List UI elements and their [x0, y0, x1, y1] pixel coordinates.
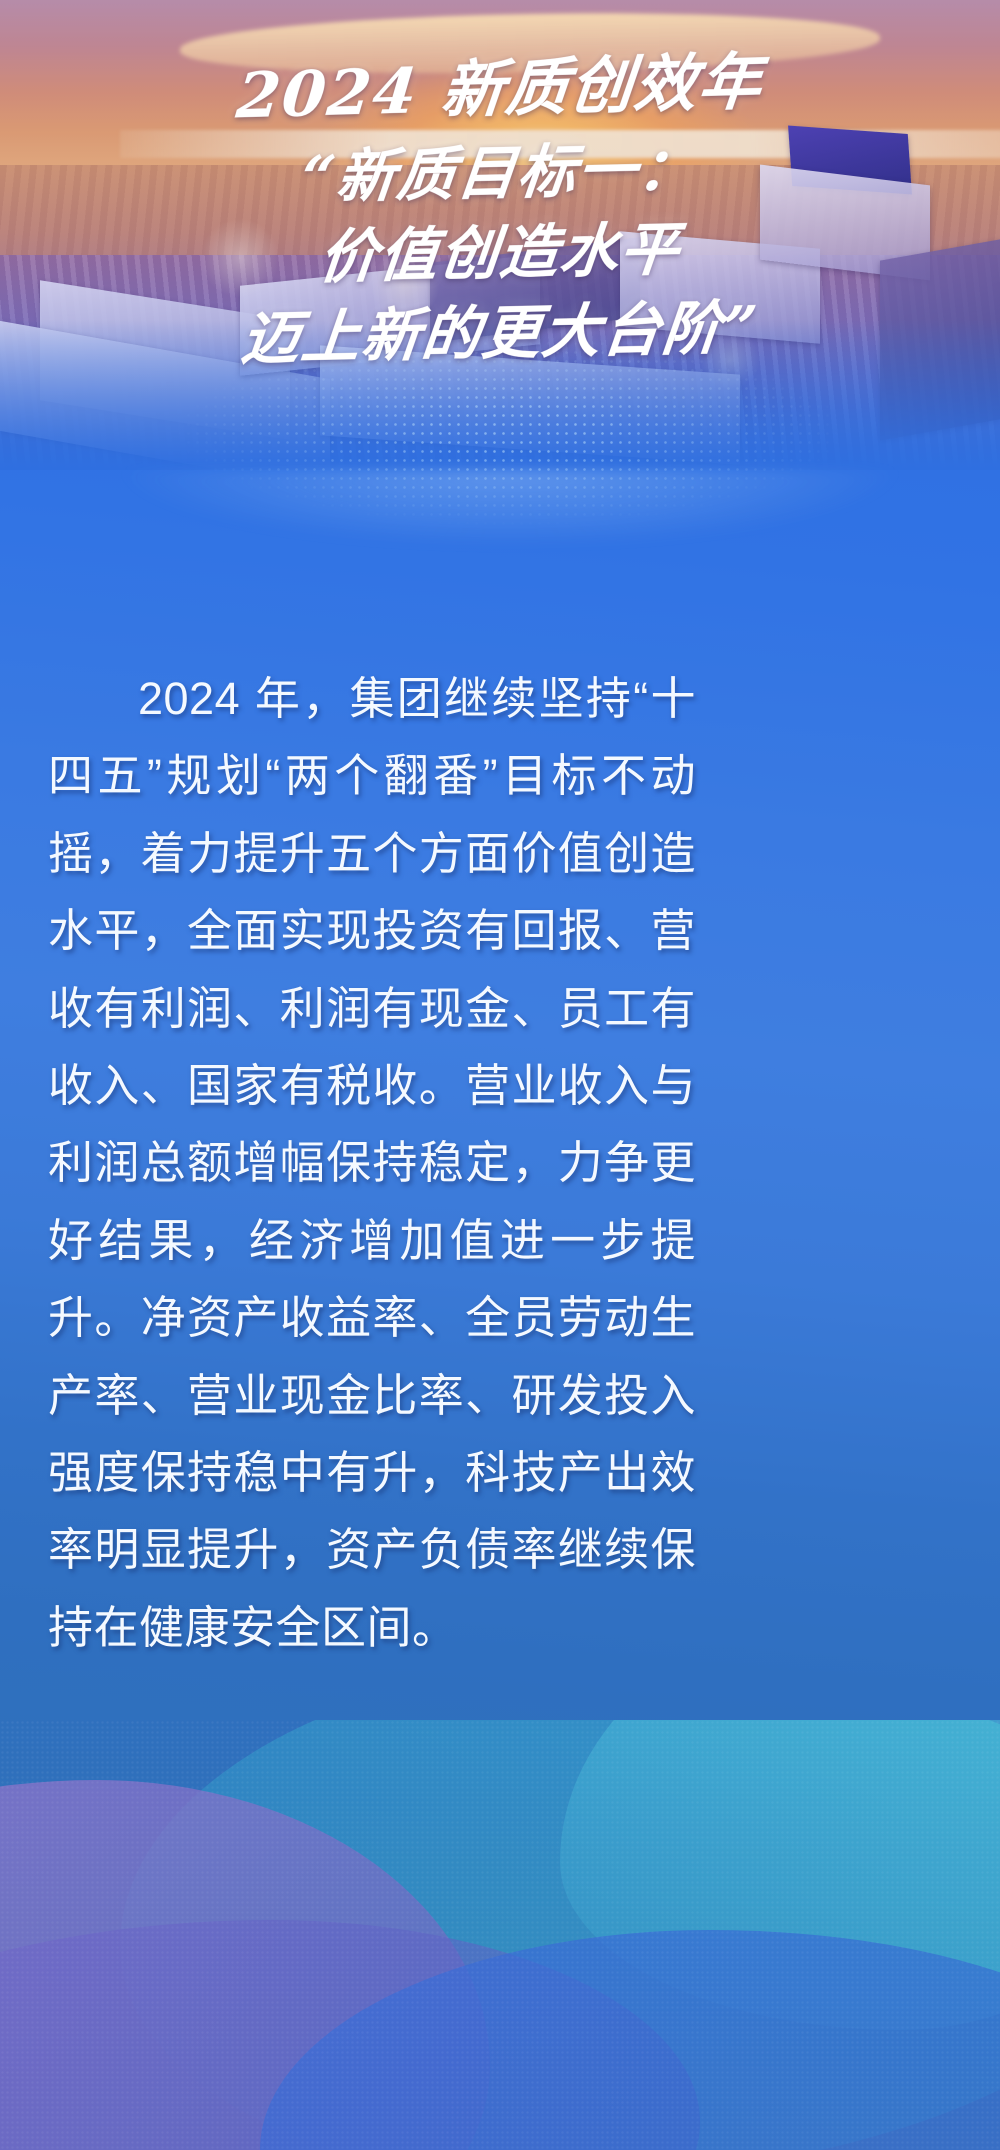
body-paragraph: 2024 年，集团继续坚持“十四五”规划“两个翻番”目标不动摇，着力提升五个方面… — [48, 660, 696, 1666]
grain-texture — [0, 1720, 1000, 2150]
body-text-block: 2024 年，集团继续坚持“十四五”规划“两个翻番”目标不动摇，着力提升五个方面… — [48, 660, 696, 1666]
poster-canvas: 2024 新质创效年 “新质目标一： 价值创造水平 迈上新的更大台阶” 2024… — [0, 0, 1000, 2150]
light-wave-glow — [0, 470, 1000, 660]
bottom-decorative-shapes — [0, 1720, 1000, 2150]
